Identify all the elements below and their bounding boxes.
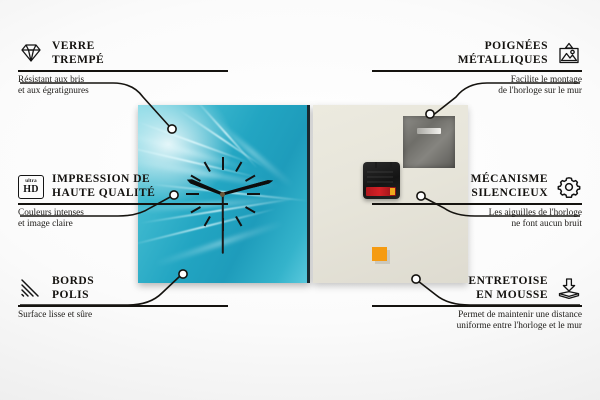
hanger-loop <box>375 162 392 168</box>
callout-title-line1: IMPRESSION DE <box>52 173 150 185</box>
callout-desc-line2: de l'horloge sur le mur <box>498 86 582 96</box>
hanger-slot <box>417 128 441 134</box>
ultra-hd-icon: ultra HD <box>18 175 44 199</box>
callout-title-line2: POLIS <box>52 289 89 301</box>
callout-rule <box>372 70 582 71</box>
callout-desc-line1: Facilite le montage <box>511 75 582 85</box>
infographic-canvas: VERRE TREMPÉ Résistant aux bris et aux é… <box>0 0 600 400</box>
callout-verre-trempe: VERRE TREMPÉ Résistant aux bris et aux é… <box>18 40 228 98</box>
callout-title-line2: HAUTE QUALITÉ <box>52 187 155 199</box>
callout-title-line1: MÉCANISME <box>471 173 548 185</box>
diamond-icon <box>18 42 44 66</box>
callout-title-line1: ENTRETOISE <box>468 275 548 287</box>
callout-title-line2: MÉTALLIQUES <box>458 54 548 66</box>
ultra-hd-icon-top-label: ultra <box>25 179 37 184</box>
callout-rule <box>18 203 228 204</box>
callout-entretoise-mousse: ENTRETOISE EN MOUSSE Permet de maintenir… <box>372 275 582 333</box>
callout-desc-line1: Permet de maintenir une distance <box>458 310 582 320</box>
callout-poignees-metalliques: POIGNÉES MÉTALLIQUES Facilite le montage… <box>372 40 582 98</box>
callout-title-line2: EN MOUSSE <box>476 289 548 301</box>
callout-rule <box>372 305 582 306</box>
callout-desc-line1: Les aiguilles de l'horloge <box>489 208 582 218</box>
callout-impression-hd: ultra HD IMPRESSION DE HAUTE QUALITÉ Cou… <box>18 173 228 231</box>
foam-spacer <box>372 247 387 261</box>
callout-rule <box>18 305 228 306</box>
metal-hanger-plate <box>403 116 455 168</box>
callout-desc-line2: ne font aucun bruit <box>512 219 582 229</box>
callout-title-line1: BORDS <box>52 275 94 287</box>
polished-edges-icon <box>18 277 44 301</box>
callout-title-line1: VERRE <box>52 40 95 52</box>
callout-desc-line1: Résistant aux bris <box>18 75 84 85</box>
callout-desc-line1: Surface lisse et sûre <box>18 310 92 320</box>
callout-title-line2: SILENCIEUX <box>471 187 548 199</box>
picture-frame-hanging-icon <box>556 42 582 66</box>
callout-bords-polis: BORDS POLIS Surface lisse et sûre <box>18 275 228 321</box>
ultra-hd-icon-bottom-label: HD <box>23 185 38 195</box>
callout-desc-line2: uniforme entre l'horloge et le mur <box>457 321 582 331</box>
foam-spacer-icon <box>556 277 582 301</box>
callout-title-line1: POIGNÉES <box>485 40 548 52</box>
callout-rule <box>372 203 582 204</box>
callout-desc-line2: et image claire <box>18 219 73 229</box>
callout-title-line2: TREMPÉ <box>52 54 104 66</box>
gear-icon <box>556 175 582 199</box>
callout-mecanisme-silencieux: MÉCANISME SILENCIEUX Les aiguilles de l'… <box>372 173 582 231</box>
callout-desc-line1: Couleurs intenses <box>18 208 84 218</box>
callout-desc-line2: et aux égratignures <box>18 86 89 96</box>
callout-rule <box>18 70 228 71</box>
